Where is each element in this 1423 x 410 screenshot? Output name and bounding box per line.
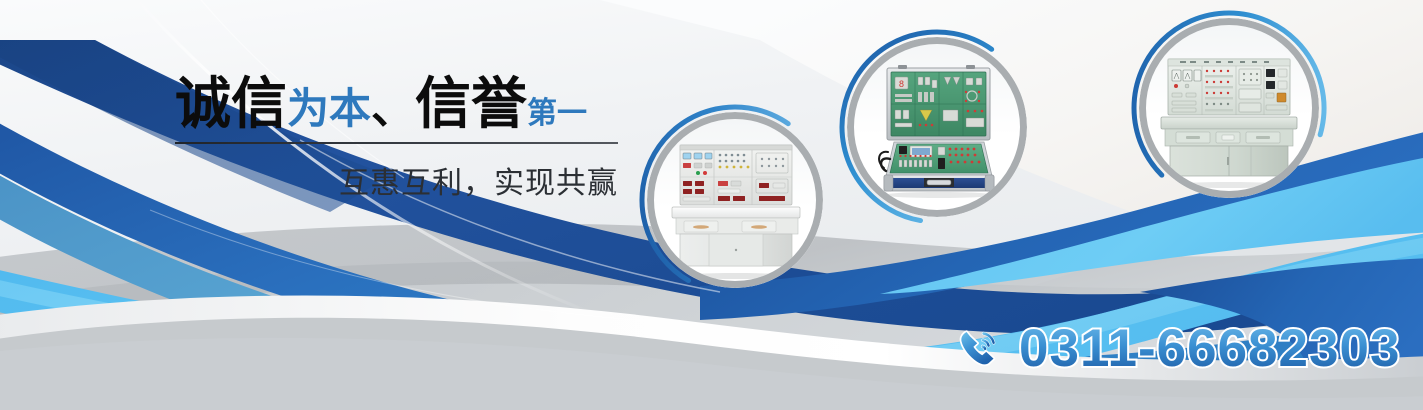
contact-phone-block[interactable]: 0311-66682303 0311-66682303 — [953, 322, 1400, 375]
product-circle-3[interactable] — [1139, 18, 1319, 198]
product-circle-2[interactable]: 8 — [847, 37, 1027, 217]
slogan-part-3: 信誉 — [415, 72, 527, 135]
electrical-control-console-illustration — [1146, 25, 1312, 191]
product-circle-1[interactable] — [647, 112, 823, 288]
slogan-part-4: 第一 — [527, 97, 587, 130]
slogan-divider — [175, 142, 618, 144]
electrical-lab-workbench-illustration — [654, 119, 816, 281]
svg-text:8: 8 — [899, 80, 904, 90]
slogan-separator: 、 — [371, 84, 415, 133]
phone-call-icon — [953, 323, 1005, 375]
phone-number[interactable]: 0311-66682303 — [1019, 322, 1400, 375]
product-image-1 — [654, 119, 816, 281]
slogan-subtitle: 互惠互利，实现共赢 — [175, 158, 618, 202]
portable-training-suitcase-illustration: 8 — [854, 44, 1020, 210]
phone-number-wrap: 0311-66682303 0311-66682303 — [1019, 322, 1400, 375]
slogan-part-2: 为本 — [287, 85, 371, 132]
slogan-part-1: 诚信 — [175, 72, 287, 135]
promo-banner: 8 — [0, 0, 1423, 410]
slogan-block: 诚信为本、信誉第一 互惠互利，实现共赢 — [175, 74, 625, 202]
product-image-3 — [1146, 25, 1312, 191]
slogan-headline: 诚信为本、信誉第一 — [175, 74, 625, 134]
product-image-2: 8 — [854, 44, 1020, 210]
